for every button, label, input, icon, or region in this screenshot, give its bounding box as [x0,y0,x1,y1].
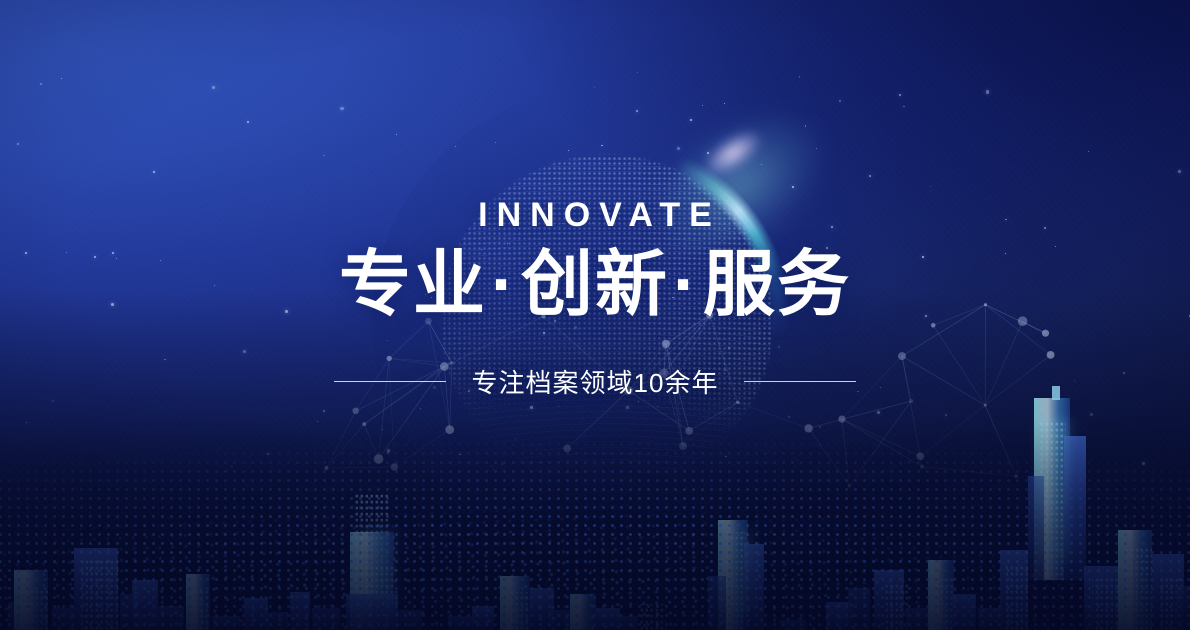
headline-separator-2: · [669,245,703,325]
headline-part-3: 服务 [703,245,851,325]
headline: 专业·创新·服务 [0,247,1190,325]
headline-part-1: 专业 [339,245,487,325]
subtitle-rule-right [744,381,856,382]
subtitle-rule-left [334,381,446,382]
eyebrow-text: INNOVATE [0,196,1190,235]
subtitle-text: 专注档案领域10余年 [472,363,719,400]
hero-banner: INNOVATE 专业·创新·服务 专注档案领域10余年 [0,0,1190,630]
headline-part-2: 创新 [521,245,669,325]
subtitle-row: 专注档案领域10余年 [0,363,1190,400]
headline-separator-1: · [487,245,521,325]
